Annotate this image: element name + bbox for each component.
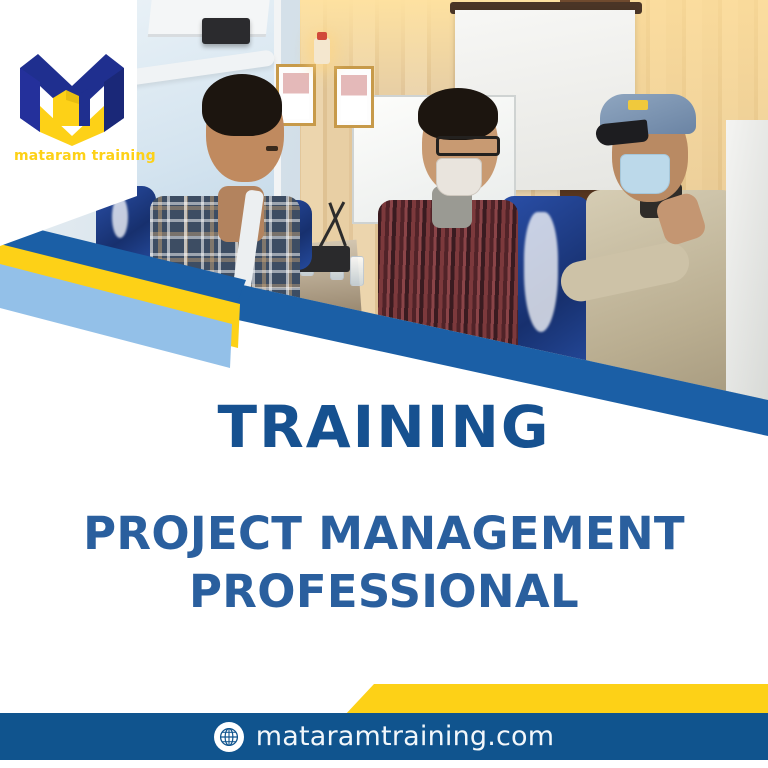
- footer-content: mataramtraining.com: [0, 713, 768, 760]
- subtitle-line-1: PROJECT MANAGEMENT: [54, 505, 714, 563]
- khaki-cap-logo: [628, 100, 648, 110]
- poster-canvas: mataram training TRAINING PROJECT MANAGE…: [0, 0, 768, 768]
- flipchart-board: [726, 120, 768, 420]
- footer-yellow-accent: [0, 684, 768, 716]
- logo-wordmark: mataram training: [14, 148, 132, 164]
- website-url[interactable]: mataramtraining.com: [256, 721, 555, 752]
- chair-center-highlight: [524, 212, 558, 332]
- striped-shirt-body: [378, 200, 518, 420]
- plaid-moustache: [266, 146, 278, 151]
- subtitle-line-2: PROFESSIONAL: [54, 563, 714, 621]
- globe-icon: [214, 722, 244, 752]
- striped-hair: [418, 88, 498, 140]
- striped-face-mask: [436, 158, 482, 196]
- khaki-face-mask: [620, 154, 670, 194]
- page-subtitle: PROJECT MANAGEMENT PROFESSIONAL: [54, 505, 714, 620]
- mataram-m-monogram-icon: [16, 46, 128, 146]
- wall-lamp: [314, 38, 330, 64]
- striped-eyeglasses: [436, 136, 500, 156]
- water-bottle-2: [350, 256, 364, 286]
- ceiling-speaker: [202, 18, 250, 44]
- footer-bar: mataramtraining.com: [0, 713, 768, 760]
- framed-portrait-right: [334, 66, 374, 128]
- plaid-hair: [202, 74, 282, 136]
- page-title: TRAINING: [0, 398, 768, 456]
